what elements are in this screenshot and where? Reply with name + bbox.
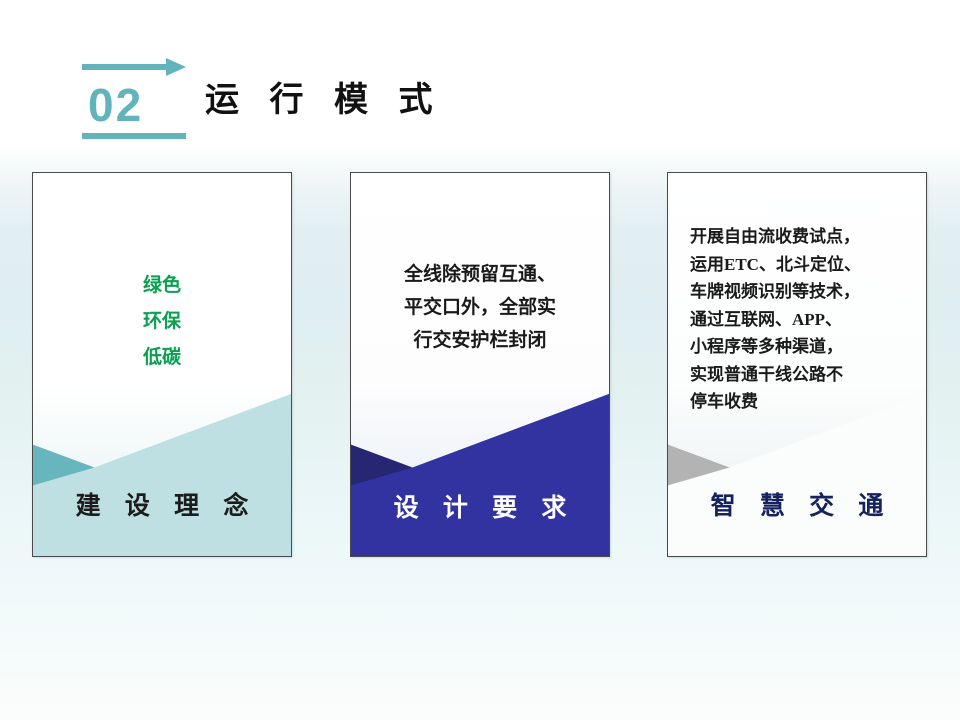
card-text-block: 全线除预留互通、 平交口外，全部实 行交安护栏封闭 (351, 258, 609, 357)
card-construction-concept[interactable]: 绿色 环保 低碳 建 设 理 念 (32, 172, 292, 557)
card-text-line: 行交安护栏封闭 (367, 324, 593, 357)
card-text-line: 小程序等多种渠道， (684, 333, 910, 361)
card-smart-transportation[interactable]: 开展自由流收费试点， 运用ETC、北斗定位、 车牌视频识别等技术， 通过互联网、… (667, 172, 927, 557)
card-title: 设 计 要 求 (351, 488, 609, 524)
card-text-line: 车牌视频识别等技术， (684, 278, 910, 306)
card-text-line: 平交口外，全部实 (367, 291, 593, 324)
card-text-block: 绿色 环保 低碳 (33, 268, 291, 376)
card-text-line: 低碳 (49, 340, 275, 376)
card-text-line: 绿色 (49, 268, 275, 304)
card-title: 智 慧 交 通 (668, 486, 926, 522)
card-text-line: 全线除预留互通、 (367, 258, 593, 291)
card-design-requirements[interactable]: 全线除预留互通、 平交口外，全部实 行交安护栏封闭 设 计 要 求 (350, 172, 610, 557)
card-text-line: 通过互联网、APP、 (684, 306, 910, 334)
card-text-line: 运用ETC、北斗定位、 (684, 251, 910, 279)
card-text-line: 环保 (49, 304, 275, 340)
card-text-line: 开展自由流收费试点， (684, 223, 910, 251)
card-text-block: 开展自由流收费试点， 运用ETC、北斗定位、 车牌视频识别等技术， 通过互联网、… (668, 223, 926, 416)
card-text-line: 停车收费 (684, 388, 910, 416)
card-title: 建 设 理 念 (33, 486, 291, 522)
card-text-line: 实现普通干线公路不 (684, 361, 910, 389)
card-list: 绿色 环保 低碳 建 设 理 念 (0, 0, 960, 720)
